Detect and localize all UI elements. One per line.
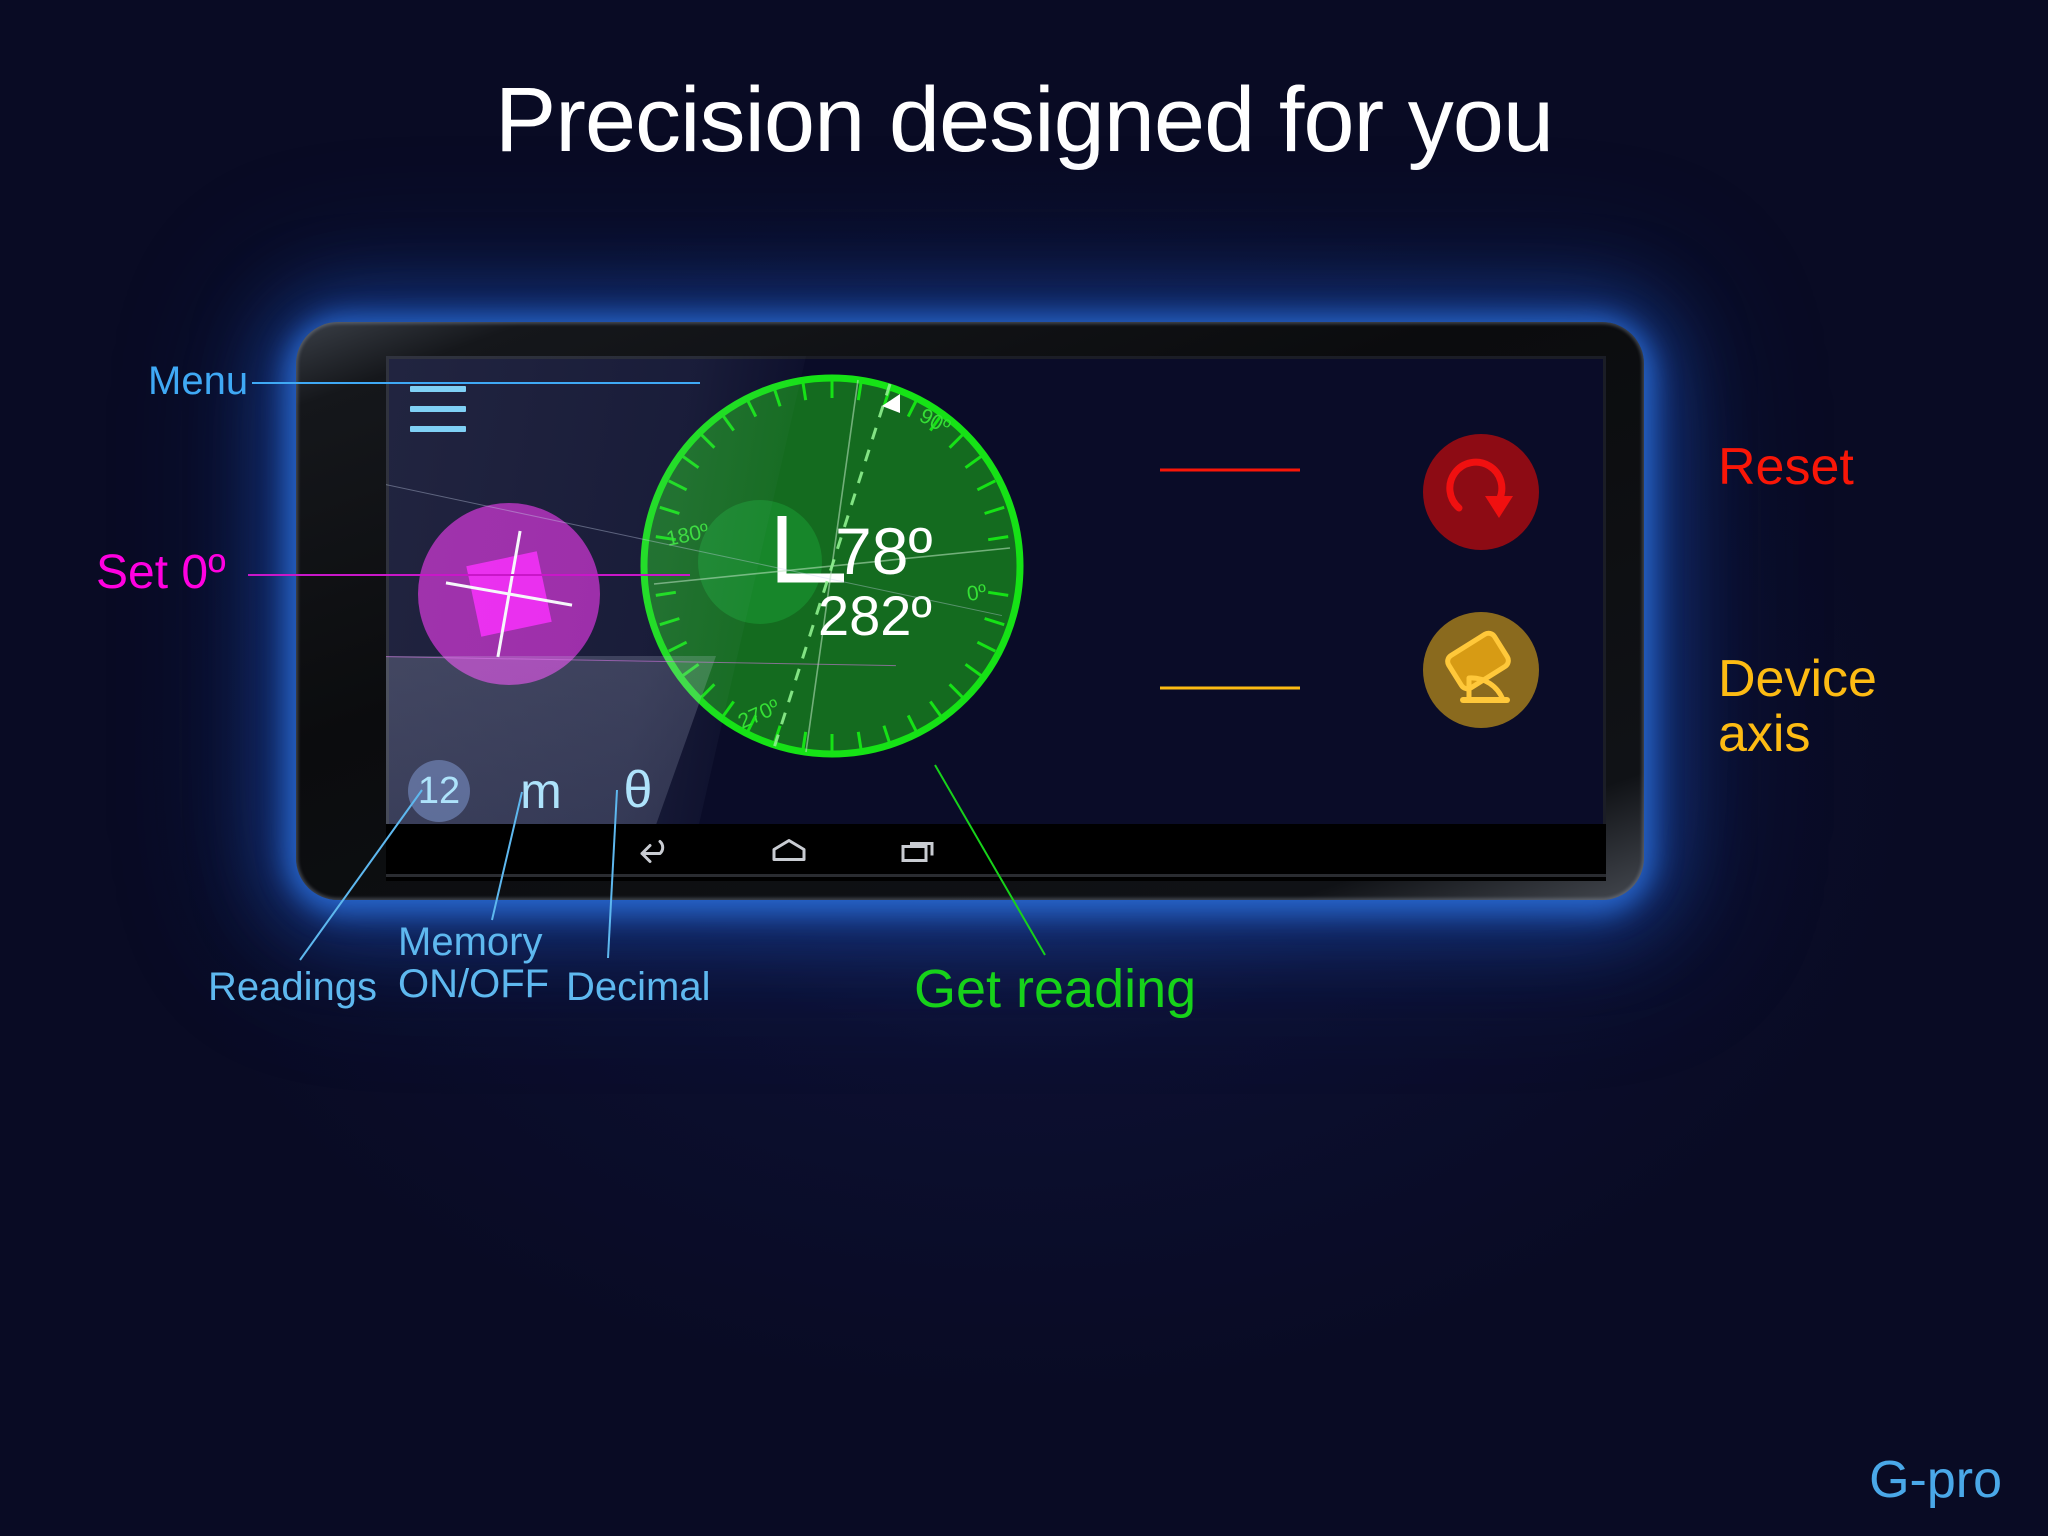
device-axis-button[interactable] (1423, 612, 1539, 728)
annotation-reset: Reset (1718, 440, 1854, 495)
readings-count-chip[interactable]: 12 (408, 760, 470, 822)
secondary-reading: 282º (818, 588, 932, 644)
annotation-device-axis: Device axis (1718, 652, 1877, 762)
annotation-get-reading: Get reading (914, 961, 1196, 1018)
primary-reading: 78º (835, 518, 933, 584)
brand-logo: G-pro (1869, 1450, 2002, 1510)
app-toolbar: 12 m θ (386, 752, 1606, 830)
navbar-divider (386, 874, 1606, 877)
annotation-decimal: Decimal (566, 966, 710, 1008)
android-navigation-bar (386, 824, 1606, 881)
home-icon[interactable] (768, 835, 810, 870)
angle-dial[interactable]: 90º 180º 270º 0º 78º 282º (632, 366, 1032, 766)
recent-apps-icon[interactable] (898, 835, 940, 870)
annotation-readings: Readings (208, 966, 377, 1008)
memory-toggle-button[interactable]: m (506, 762, 576, 820)
poster-canvas: Precision designed for you (0, 0, 2048, 1536)
menu-bar-1 (410, 386, 466, 392)
device-tilt-icon (1423, 612, 1539, 728)
hamburger-menu-icon[interactable] (410, 386, 470, 440)
dial-hub (698, 500, 822, 624)
set-zero-button[interactable] (418, 503, 600, 685)
decimal-toggle-button[interactable]: θ (608, 758, 668, 822)
annotation-set-zero: Set 0º (96, 548, 226, 599)
menu-bar-2 (410, 406, 466, 412)
reset-rotate-icon (1423, 434, 1539, 550)
back-icon[interactable] (634, 835, 674, 870)
reset-button[interactable] (1423, 434, 1539, 550)
tablet-screen: 90º 180º 270º 0º 78º 282º (386, 356, 1606, 881)
page-title: Precision designed for you (0, 74, 2048, 166)
annotation-menu: Menu (148, 360, 248, 402)
annotation-memory: Memory ON/OFF (398, 921, 549, 1006)
dial-tick-label-0: 0º (965, 580, 988, 606)
menu-bar-3 (410, 426, 466, 432)
